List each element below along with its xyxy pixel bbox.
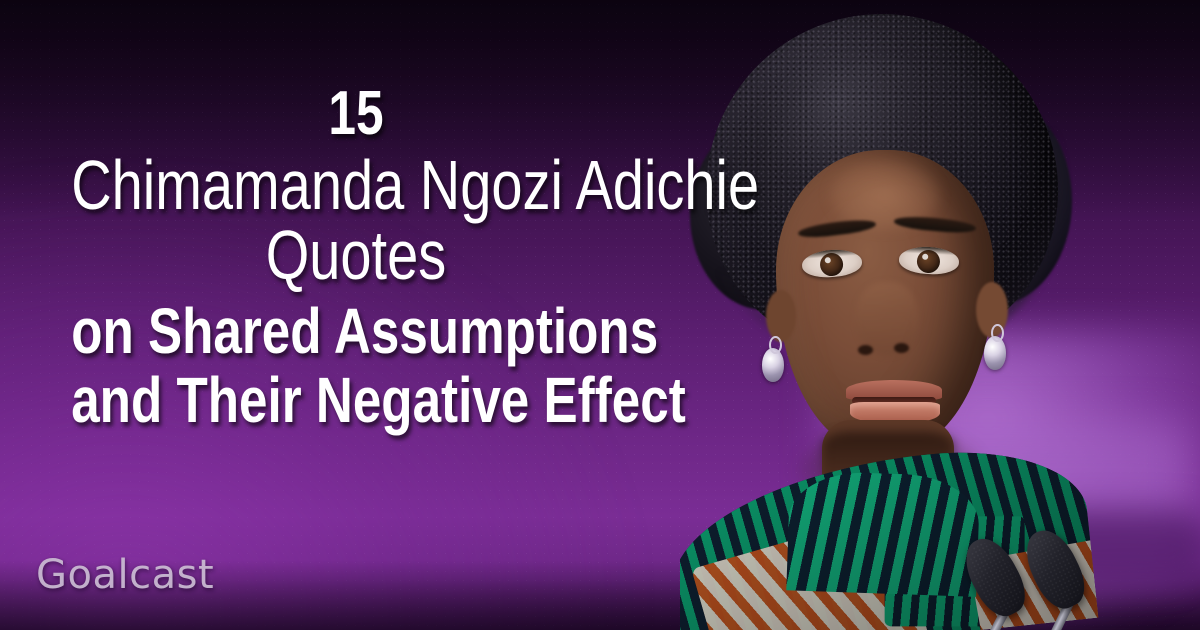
quote-card: 15 Chimamanda Ngozi Adichie Quotes on Sh… — [0, 0, 1200, 630]
portrait-photo — [680, 0, 1200, 630]
title-count: 15 — [71, 84, 641, 145]
title-subtitle-2: and Their Negative Effect — [71, 369, 641, 432]
nostril-right — [894, 343, 909, 353]
title-block: 15 Chimamanda Ngozi Adichie Quotes on Sh… — [0, 84, 712, 431]
title-subtitle-1: on Shared Assumptions — [71, 300, 641, 363]
title-person-name: Chimamanda Ngozi Adichie — [71, 151, 641, 220]
goalcast-logo[interactable]: Goalcast — [36, 552, 214, 598]
nostril-left — [858, 345, 873, 355]
ear-left — [766, 290, 796, 342]
title-quotes-word: Quotes — [71, 221, 641, 290]
earring-right — [984, 336, 1006, 370]
earring-left — [762, 348, 784, 382]
